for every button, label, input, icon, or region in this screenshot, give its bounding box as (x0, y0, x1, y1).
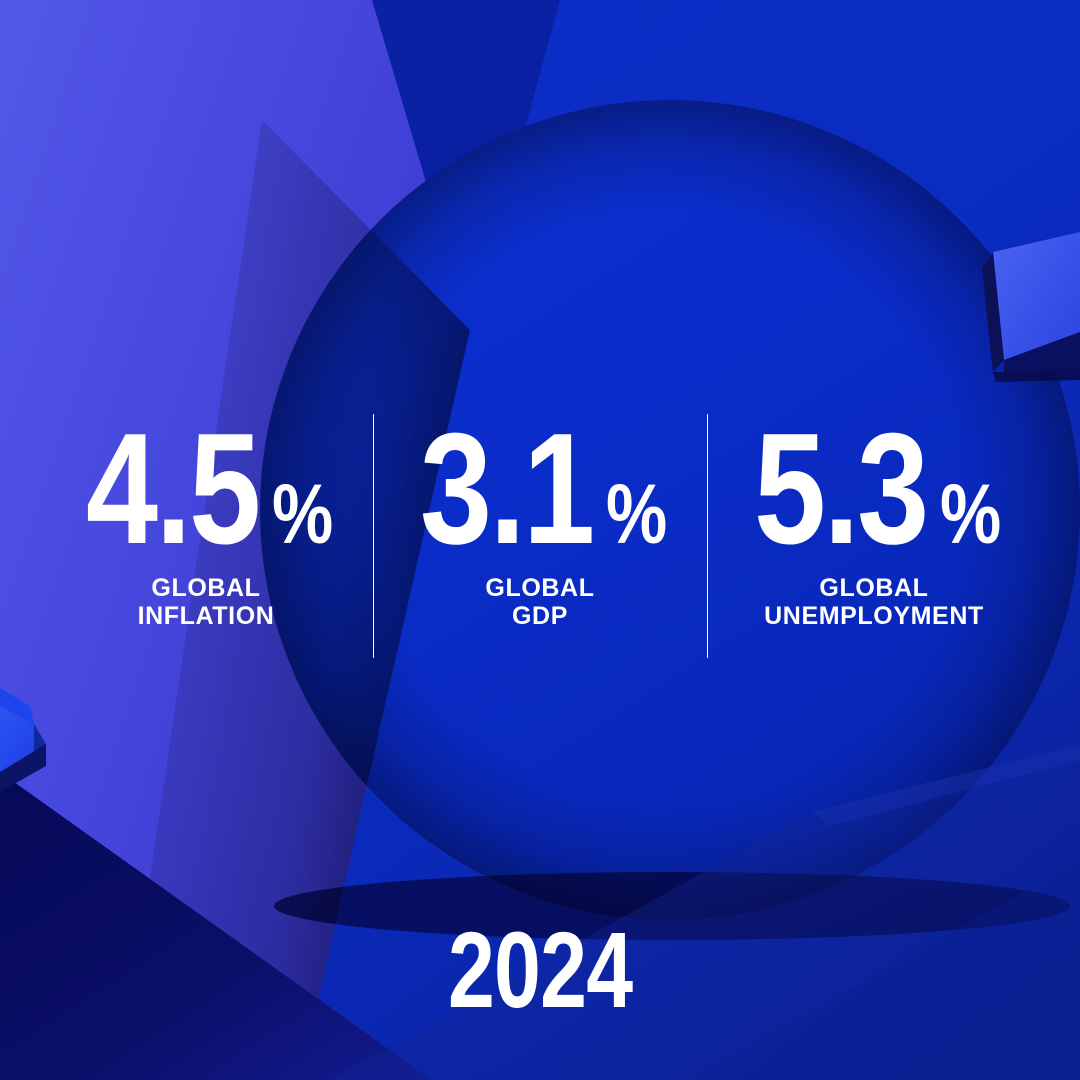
stat-global-unemployment: 5.3% GLOBAL UNEMPLOYMENT (708, 404, 1041, 676)
infographic-canvas: 4.5% GLOBAL INFLATION 3.1% GLOBAL GDP 5.… (0, 0, 1080, 1080)
stat-label-inflation: GLOBAL INFLATION (138, 574, 275, 631)
stat-label-gdp: GLOBAL GDP (485, 574, 594, 631)
stat-value-gdp: 3.1% (401, 422, 678, 558)
stat-global-gdp: 3.1% GLOBAL GDP (374, 404, 707, 676)
year-text: 2024 (448, 916, 632, 1024)
stat-number-gdp: 3.1 (420, 422, 593, 558)
percent-sign-icon-inflation: % (272, 478, 332, 550)
stats-row: 4.5% GLOBAL INFLATION 3.1% GLOBAL GDP 5.… (0, 404, 1080, 676)
percent-sign-icon-gdp: % (606, 478, 666, 550)
decorative-3d-box-top-right (982, 232, 1080, 382)
percent-sign-icon-unemployment: % (940, 478, 1000, 550)
stat-value-unemployment: 5.3% (735, 422, 1012, 558)
stat-number-unemployment: 5.3 (754, 422, 927, 558)
stat-number-inflation: 4.5 (86, 422, 259, 558)
stat-global-inflation: 4.5% GLOBAL INFLATION (40, 404, 373, 676)
year-footer: 2024 (0, 916, 1080, 1024)
stat-value-inflation: 4.5% (67, 422, 344, 558)
stat-label-unemployment: GLOBAL UNEMPLOYMENT (764, 574, 984, 631)
